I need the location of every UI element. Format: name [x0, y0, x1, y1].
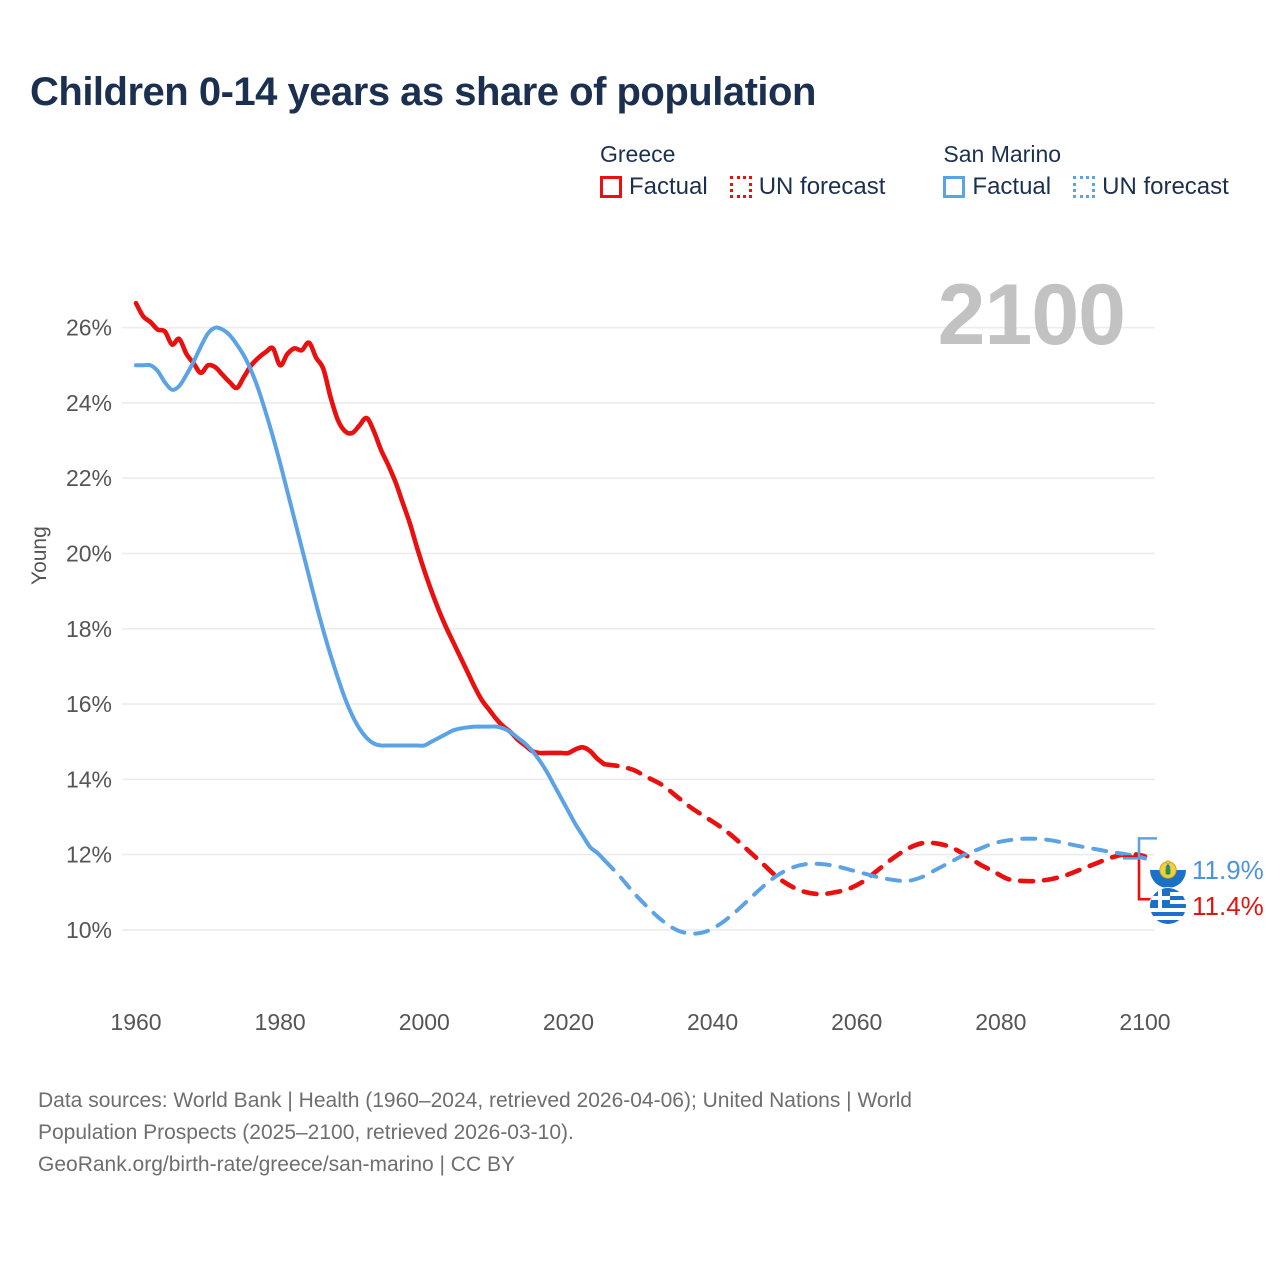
footer-sources: Data sources: World Bank | Health (1960–… [38, 1085, 1218, 1181]
y-tick-label: 18% [66, 616, 112, 642]
x-tick-label: 2100 [1119, 1009, 1170, 1035]
greece-flag-icon [1150, 888, 1186, 924]
x-tick-label: 2080 [975, 1009, 1026, 1035]
series-line-factual-greece [136, 303, 604, 764]
y-tick-label: 26% [66, 315, 112, 341]
san-marino-flag-icon [1150, 852, 1186, 888]
plot-area: 10%12%14%16%18%20%22%24%26% 196019802000… [0, 0, 1280, 1060]
x-tick-label: 1960 [110, 1009, 161, 1035]
x-tick-label: 2060 [831, 1009, 882, 1035]
x-tick-label: 1980 [255, 1009, 306, 1035]
y-tick-label: 24% [66, 390, 112, 416]
watermark-year: 2100 [938, 272, 1125, 358]
series-line-forecast-san-marino [604, 839, 1145, 934]
y-tick-label: 20% [66, 540, 112, 566]
y-tick-labels: 10%12%14%16%18%20%22%24%26% [66, 315, 112, 943]
x-tick-label: 2040 [687, 1009, 738, 1035]
end-label-san-marino: 11.9% [1150, 852, 1264, 888]
x-tick-label: 2000 [399, 1009, 450, 1035]
end-label-value: 11.9% [1192, 857, 1264, 883]
y-tick-label: 14% [66, 766, 112, 792]
end-label-greece: 11.4% [1150, 888, 1264, 924]
x-tick-labels: 19601980200020202040206020802100 [110, 1009, 1170, 1035]
line-chart-svg: 10%12%14%16%18%20%22%24%26% 196019802000… [0, 0, 1280, 1060]
footer-line-2: Population Prospects (2025–2100, retriev… [38, 1117, 1218, 1149]
x-tick-label: 2020 [543, 1009, 594, 1035]
y-tick-label: 12% [66, 842, 112, 868]
y-tick-label: 10% [66, 917, 112, 943]
y-tick-label: 22% [66, 465, 112, 491]
y-axis-title: Young [28, 526, 52, 585]
series-line-factual-san-marino [136, 327, 604, 860]
gridlines [122, 328, 1155, 930]
end-label-value: 11.4% [1192, 893, 1264, 919]
footer-line-1: Data sources: World Bank | Health (1960–… [38, 1085, 1218, 1117]
y-tick-label: 16% [66, 691, 112, 717]
series-paths [136, 303, 1145, 934]
footer-line-3[interactable]: GeoRank.org/birth-rate/greece/san-marino… [38, 1149, 1218, 1181]
chart-container: Children 0-14 years as share of populati… [0, 0, 1280, 1280]
